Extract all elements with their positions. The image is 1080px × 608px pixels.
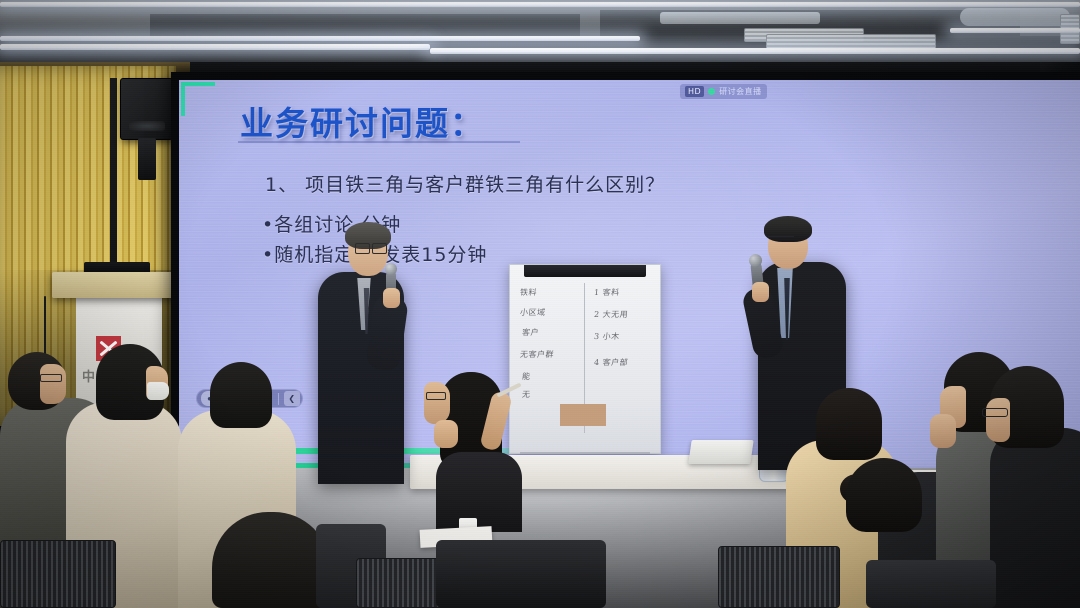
flipchart-note: 小区域 (519, 307, 546, 318)
glasses-icon (426, 392, 446, 400)
led-strip-3 (0, 44, 430, 50)
flipchart-note: 1 客料 (593, 287, 620, 298)
ceiling-panel-left (150, 14, 580, 36)
led-strip-4 (430, 48, 1080, 54)
flipchart-note: 3 小木 (593, 331, 620, 342)
audience-member-neck (560, 404, 606, 426)
chair (718, 546, 840, 608)
live-dot-icon (708, 88, 715, 95)
presenter-left-glasses-icon (355, 243, 388, 252)
flipchart-note: 能 (521, 371, 531, 382)
slide-accent-corner (181, 82, 215, 116)
podium-top (52, 272, 182, 298)
chair (866, 560, 996, 608)
watermark-badge: HD (685, 86, 704, 97)
wall-speaker-icon (120, 78, 173, 140)
presenter-right-glasses-icon (768, 236, 794, 244)
chair (0, 540, 116, 608)
ceiling-duct-b (960, 8, 1070, 26)
glasses-icon (40, 374, 62, 382)
share-icon[interactable]: ❮ (284, 391, 300, 406)
audience-member-hand (930, 414, 956, 448)
led-strip-1 (0, 2, 1080, 7)
audience-member-hand (434, 420, 458, 448)
flipchart-note: 无 (521, 389, 531, 400)
slide-question-1: 1、 项目铁三角与客户群铁三角有什么区别？ (265, 170, 665, 197)
audience-member-hair (816, 388, 882, 460)
audience-member-face (40, 364, 66, 404)
presenter-left-hand (383, 288, 400, 308)
flipchart-note: 无客户群 (519, 349, 554, 360)
glasses-icon (982, 408, 1008, 417)
watermark-text: 研讨会直播 (719, 86, 762, 97)
flipchart-note: 铁料 (519, 287, 537, 298)
flipchart-legs (520, 452, 650, 454)
flipchart-note: 客户 (521, 327, 539, 338)
speaker-mount-arm (138, 138, 156, 180)
presenter-right-hand (752, 282, 769, 302)
audience-member-hair (846, 458, 922, 532)
led-strip-5 (950, 28, 1080, 33)
slide-title: 业务研讨问题： (240, 97, 485, 145)
audience-member (436, 452, 522, 532)
audience-member (990, 428, 1080, 608)
ceiling-duct-a (660, 12, 820, 24)
flipchart-note: 2 大无用 (593, 309, 628, 320)
face-mask-icon (147, 382, 169, 400)
audience-member-face (424, 382, 450, 424)
slide-title-underline (238, 141, 520, 143)
podium-logo-text: 中 (82, 366, 96, 385)
audience-member-face (986, 398, 1010, 442)
conference-room-scene: 中 业务研讨问题： 1、 项目铁三角与客户群铁三角有什么区别？ •各组讨论 分钟… (0, 0, 1080, 608)
laptop (688, 440, 753, 464)
audience-member-foreground (212, 512, 330, 608)
flipchart-note: 4 客户部 (593, 357, 628, 368)
audience-member-hair (210, 362, 272, 428)
toolbar-divider-2 (278, 393, 279, 405)
flipchart-clamp (524, 264, 646, 277)
stream-watermark: HD 研讨会直播 (680, 84, 767, 99)
chair (436, 540, 606, 608)
led-strip-2 (0, 36, 640, 41)
